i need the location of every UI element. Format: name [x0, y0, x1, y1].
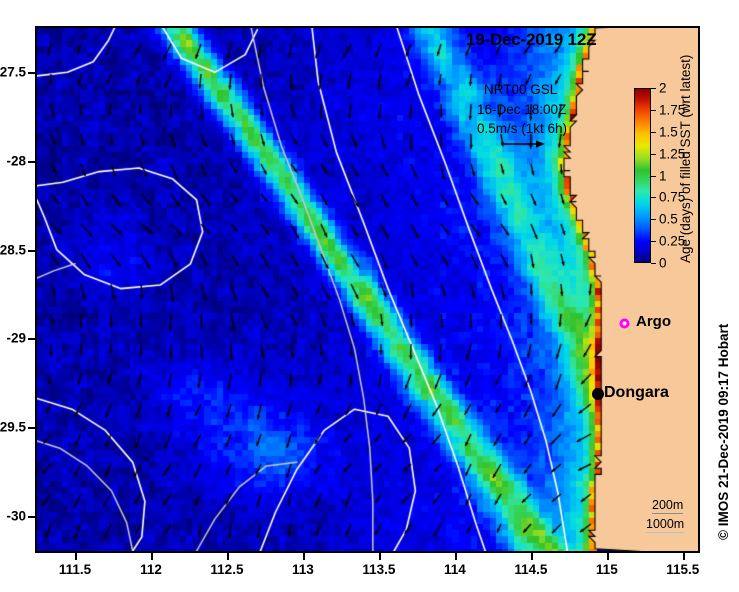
- colorbar-tick: [651, 132, 656, 133]
- x-tick-label: 112: [140, 562, 162, 577]
- x-tick-label: 114: [444, 562, 466, 577]
- colorbar-tick: [651, 197, 656, 198]
- dongara-label: Dongara: [604, 384, 669, 402]
- current-vector-field: [37, 28, 698, 551]
- y-tick-label: -27.5: [0, 65, 26, 80]
- x-tick: [151, 553, 153, 560]
- argo-float-marker-icon[interactable]: [619, 318, 630, 329]
- colorbar-title: Age (days) of filled SST (wrt latest): [678, 88, 693, 263]
- y-tick-label: -28: [6, 153, 26, 168]
- x-tick: [303, 553, 305, 560]
- x-tick-label: 112.5: [210, 562, 243, 577]
- y-tick: [28, 427, 35, 429]
- x-tick: [531, 553, 533, 560]
- colorbar-tick-label: 1.5: [659, 124, 678, 139]
- colorbar-tick-label: 0.5: [659, 212, 678, 227]
- colorbar-tick-label: 0: [659, 256, 667, 271]
- reference-arrow-icon: [500, 138, 546, 150]
- colorbar: [634, 88, 651, 263]
- colorbar-gradient: [634, 88, 651, 263]
- contour-label-200m: 200m: [652, 498, 683, 514]
- colorbar-tick: [651, 263, 656, 264]
- y-tick: [28, 338, 35, 340]
- x-tick: [75, 553, 77, 560]
- colorbar-tick-label: 2: [659, 81, 667, 96]
- colorbar-tick: [651, 154, 656, 155]
- dongara-location-dot: [592, 388, 604, 400]
- x-tick: [607, 553, 609, 560]
- annotation-valid-time: 16-Dec 18:00Z: [477, 102, 566, 117]
- y-tick-label: -28.5: [0, 242, 26, 257]
- y-tick: [28, 516, 35, 518]
- x-tick-label: 115: [596, 562, 618, 577]
- copyright-text: © IMOS 21-Dec-2019 09:17 Hobart: [716, 324, 731, 540]
- colorbar-tick: [651, 110, 656, 111]
- y-tick: [28, 250, 35, 252]
- colorbar-tick: [651, 241, 656, 242]
- x-tick: [227, 553, 229, 560]
- y-tick-label: -30: [6, 508, 26, 523]
- x-tick-label: 114.5: [514, 562, 547, 577]
- argo-label: Argo: [636, 313, 671, 330]
- colorbar-tick: [651, 219, 656, 220]
- x-tick-label: 113.5: [362, 562, 395, 577]
- y-tick: [28, 72, 35, 74]
- x-tick-label: 115.5: [666, 562, 699, 577]
- plot-title: 19-Dec-2019 12Z: [466, 30, 596, 50]
- contour-label-1000m: 1000m: [646, 517, 684, 533]
- x-tick: [379, 553, 381, 560]
- x-tick-label: 111.5: [59, 562, 91, 577]
- annotation-product: NRT00 GSL: [484, 82, 557, 97]
- x-tick: [455, 553, 457, 560]
- y-tick-label: -29: [6, 331, 26, 346]
- colorbar-tick-label: 1: [659, 168, 667, 183]
- colorbar-tick: [651, 176, 656, 177]
- colorbar-tick: [651, 88, 656, 89]
- x-tick: [683, 553, 685, 560]
- x-tick-label: 113: [292, 562, 314, 577]
- map-plot-area[interactable]: [35, 26, 700, 553]
- annotation-vector-scale: 0.5m/s (1kt 6h): [477, 121, 567, 136]
- y-tick-label: -29.5: [0, 419, 26, 434]
- y-tick: [28, 161, 35, 163]
